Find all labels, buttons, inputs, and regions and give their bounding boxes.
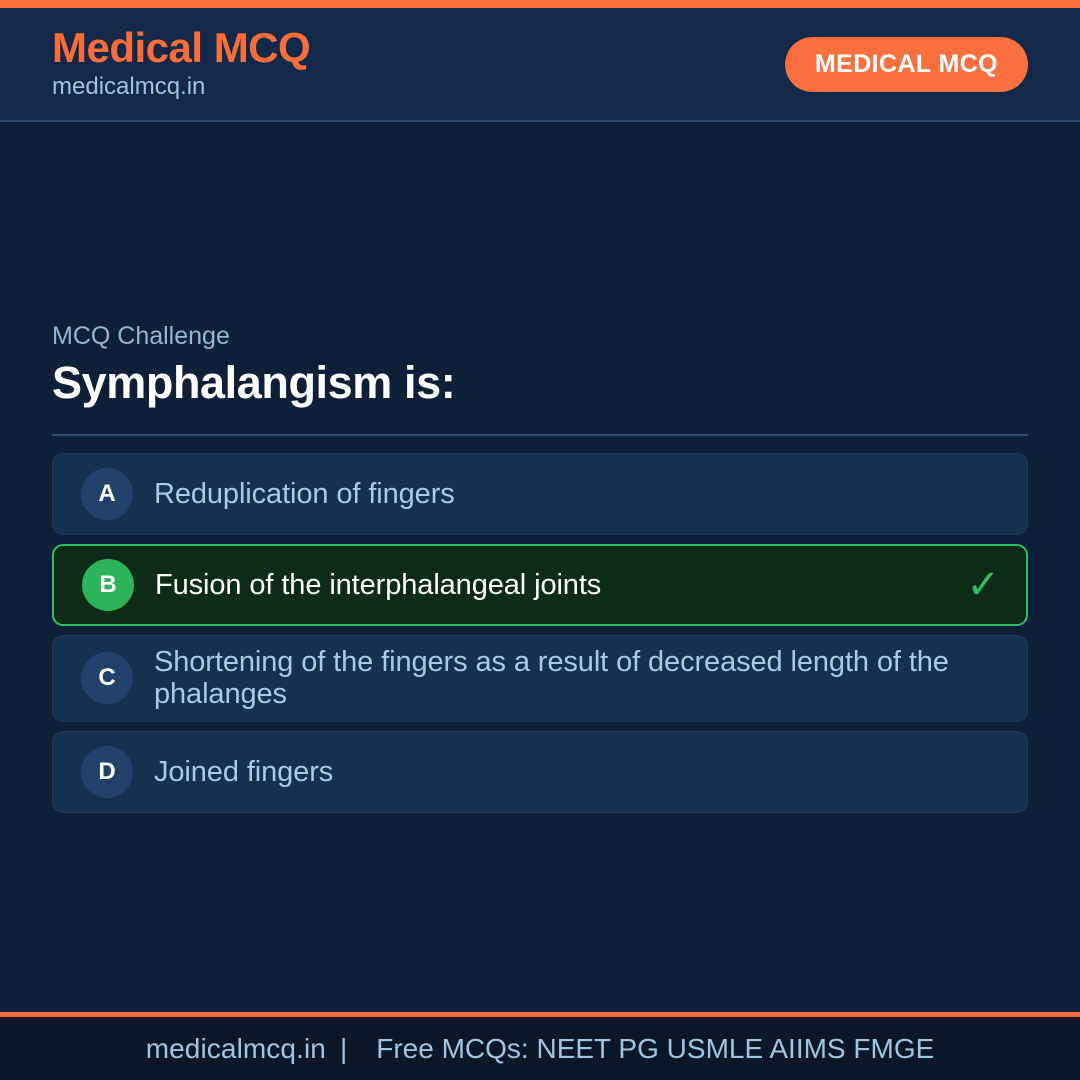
option-row-b[interactable]: B Fusion of the interphalangeal joints ✓	[52, 544, 1028, 626]
brand-block: Medical MCQ medicalmcq.in	[52, 26, 310, 102]
option-badge-c: C	[81, 652, 133, 704]
kicker-label: MCQ Challenge	[52, 321, 1028, 351]
option-row-c[interactable]: C Shortening of the fingers as a result …	[52, 635, 1028, 722]
options-list: A Reduplication of fingers ✓ B Fusion of…	[52, 453, 1028, 813]
option-label-c: Shortening of the fingers as a result of…	[154, 646, 971, 711]
question-title: Symphalangism is:	[52, 357, 1028, 409]
option-row-d[interactable]: D Joined fingers ✓	[52, 731, 1028, 813]
header-badge: MEDICAL MCQ	[785, 37, 1028, 92]
page-header: Medical MCQ medicalmcq.in MEDICAL MCQ	[0, 8, 1080, 122]
footer-site[interactable]: medicalmcq.in	[146, 1033, 326, 1065]
question-panel: MCQ Challenge Symphalangism is: A Redupl…	[0, 122, 1080, 1012]
question-divider	[52, 434, 1028, 436]
option-label-a: Reduplication of fingers	[154, 478, 455, 510]
option-label-b: Fusion of the interphalangeal joints	[155, 569, 601, 601]
option-label-d: Joined fingers	[154, 756, 333, 788]
option-row-a[interactable]: A Reduplication of fingers ✓	[52, 453, 1028, 535]
option-badge-d: D	[81, 746, 133, 798]
brand-title: Medical MCQ	[52, 26, 310, 70]
footer-separator: |	[326, 1033, 361, 1065]
page-footer: medicalmcq.in | Free MCQs: NEET PG USMLE…	[0, 1012, 1080, 1080]
brand-subtitle: medicalmcq.in	[52, 72, 310, 102]
top-accent-bar	[0, 0, 1080, 8]
option-badge-b: B	[82, 559, 134, 611]
check-icon: ✓	[966, 565, 1000, 605]
footer-tagline: Free MCQs: NEET PG USMLE AIIMS FMGE	[361, 1033, 934, 1065]
option-badge-a: A	[81, 468, 133, 520]
